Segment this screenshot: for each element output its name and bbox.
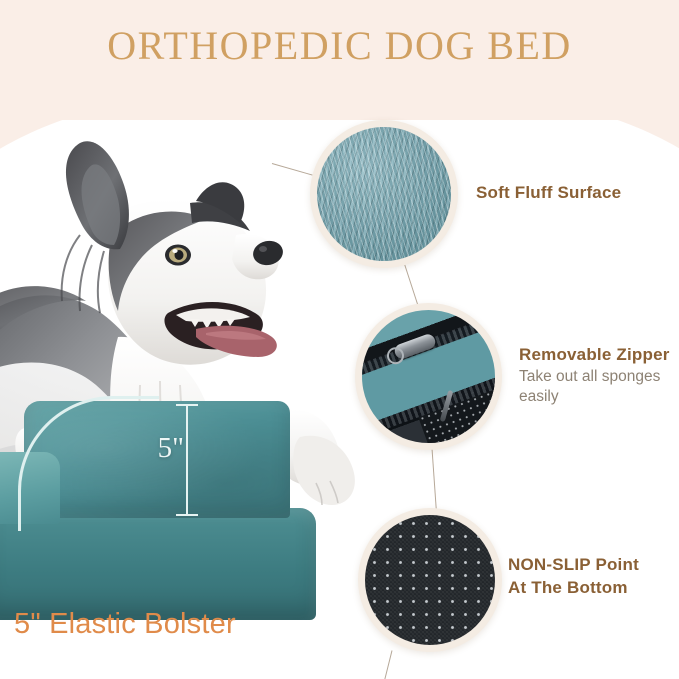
bolster-caption: 5" Elastic Bolster [14, 608, 236, 641]
callout-zipper: Removable Zipper Take out all sponges ea… [519, 344, 679, 408]
non-slip-dots-swatch [365, 515, 495, 645]
product-infographic: ORTHOPEDIC DOG BED [0, 0, 679, 679]
measure-label: 5" [150, 432, 184, 465]
detail-circle-zipper[interactable] [355, 303, 502, 450]
detail-circle-fluff[interactable] [310, 120, 458, 268]
callout-fluff: Soft Fluff Surface [476, 182, 621, 205]
zipper-photo-swatch [362, 310, 495, 443]
callout-zipper-title: Removable Zipper [519, 344, 679, 367]
zipper-pull-icon [393, 333, 438, 361]
callout-fluff-title: Soft Fluff Surface [476, 182, 621, 205]
detail-circle-non-slip[interactable] [358, 508, 502, 652]
callout-zipper-subtitle: Take out all sponges easily [519, 367, 679, 408]
callout-non-slip-title-line2: At The Bottom [508, 577, 639, 600]
fluff-texture-swatch [317, 127, 451, 261]
callout-non-slip-title-line1: NON-SLIP Point [508, 554, 639, 577]
measure-cap-bottom [176, 514, 198, 516]
measure-line [186, 404, 188, 516]
page-title: ORTHOPEDIC DOG BED [0, 22, 679, 69]
callout-non-slip: NON-SLIP Point At The Bottom [508, 554, 639, 600]
